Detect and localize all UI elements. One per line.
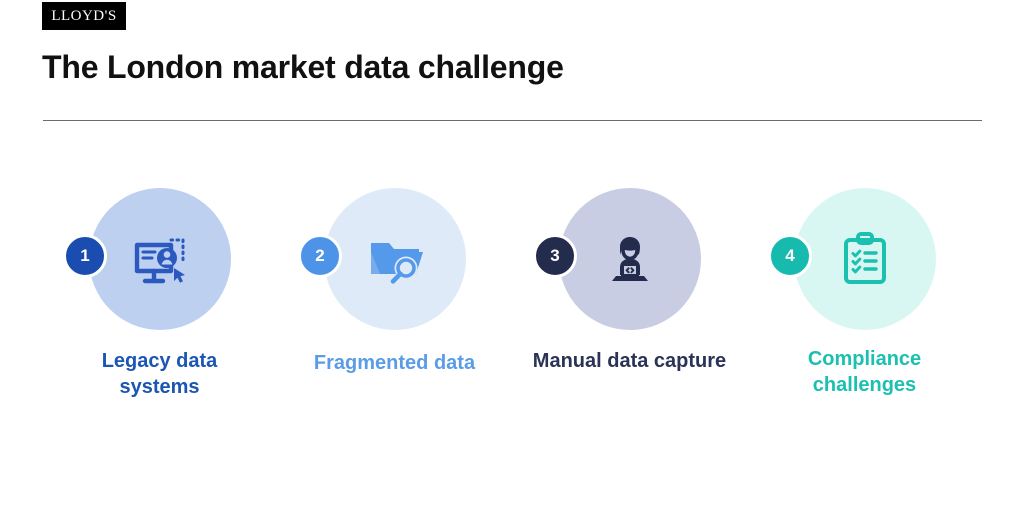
person-laptop-code-icon (594, 223, 666, 295)
page-title: The London market data challenge (42, 48, 564, 86)
monitor-user-select-icon (124, 223, 196, 295)
lloyds-logo-text: LLOYD'S (51, 9, 116, 24)
item-graphic: 1 (42, 188, 277, 330)
title-divider (43, 120, 982, 121)
challenge-item-legacy-data-systems[interactable]: 1 (42, 188, 277, 401)
item-graphic: 3 (512, 188, 747, 330)
item-label: Manual data capture (530, 348, 730, 374)
item-label: Legacy data systems (60, 348, 260, 401)
challenge-item-fragmented-data[interactable]: 2 Fragmented data (277, 188, 512, 376)
item-number-badge: 3 (533, 234, 577, 278)
challenge-item-compliance-challenges[interactable]: 4 Compli (747, 188, 982, 399)
item-number-badge: 2 (298, 234, 342, 278)
item-number: 1 (80, 246, 89, 266)
item-label: Fragmented data (295, 350, 495, 376)
item-label: Compliance challenges (765, 346, 965, 399)
item-number-badge: 4 (768, 234, 812, 278)
item-graphic: 2 (277, 188, 512, 330)
item-number: 2 (315, 246, 324, 266)
item-graphic: 4 (747, 188, 982, 330)
challenge-items-row: 1 (42, 188, 982, 401)
lloyds-logo: LLOYD'S (42, 2, 126, 30)
challenge-item-manual-data-capture[interactable]: 3 Manual data capture (512, 188, 747, 374)
folder-search-icon (359, 223, 431, 295)
item-number: 3 (550, 246, 559, 266)
item-number: 4 (785, 246, 794, 266)
item-number-badge: 1 (63, 234, 107, 278)
clipboard-checklist-icon (829, 223, 901, 295)
